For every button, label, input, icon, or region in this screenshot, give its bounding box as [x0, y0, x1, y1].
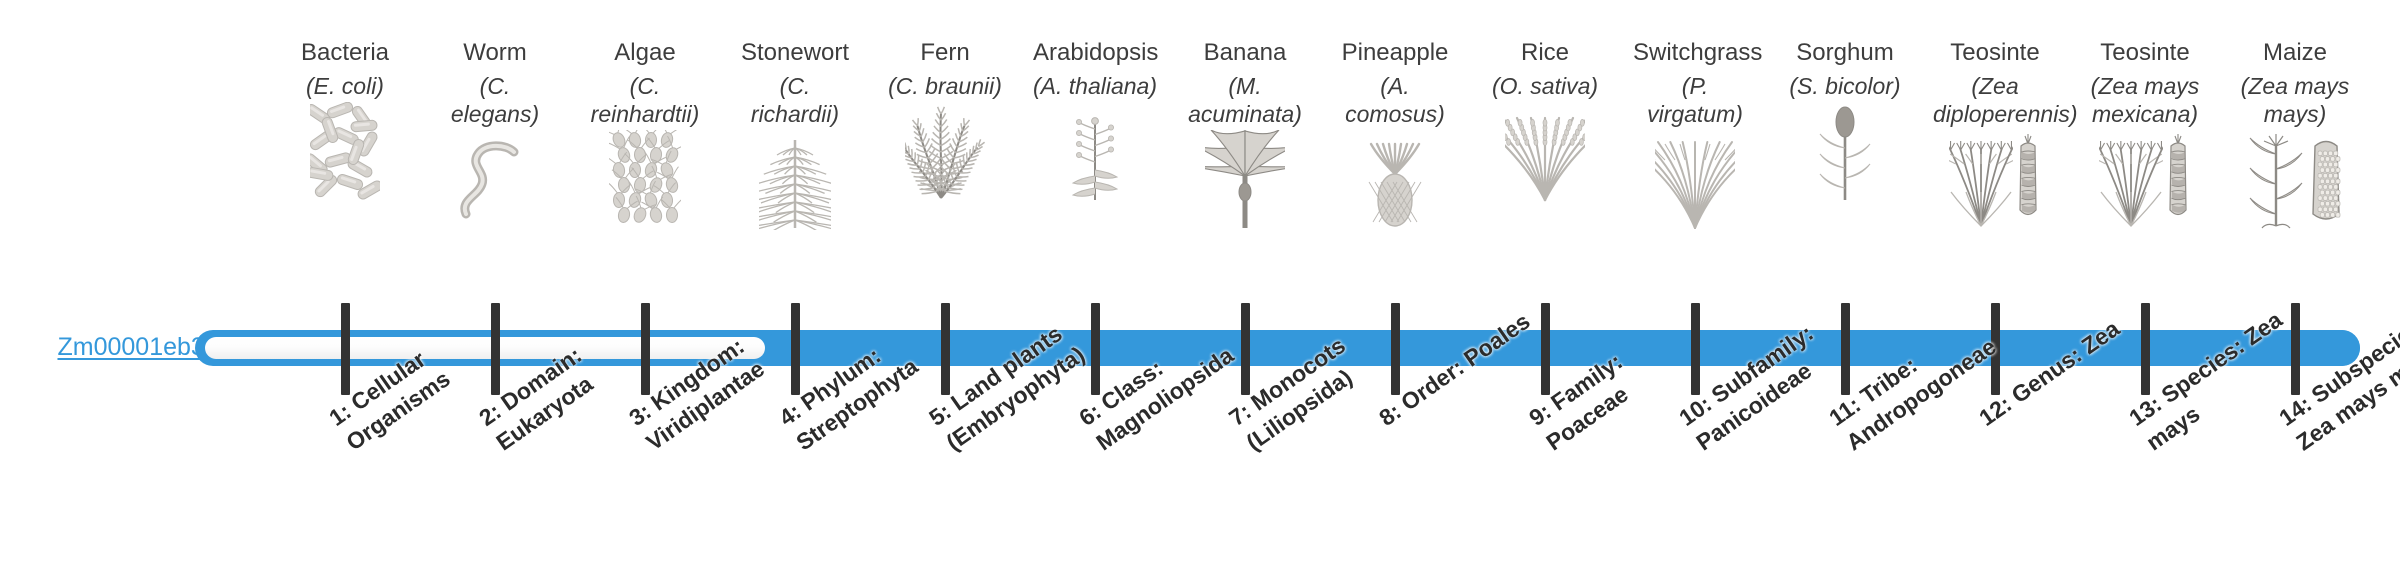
species-common-name: Switchgrass — [1633, 38, 1757, 68]
species-illustration-arabidopsis-icon — [1033, 106, 1157, 202]
species-common-name: Worm — [433, 38, 557, 68]
species-illustration-switchgrass-icon — [1633, 134, 1757, 230]
species-illustration-teosinte-icon — [1933, 134, 2057, 230]
rank-label-6: 6: Class: Magnoliopsida — [1073, 299, 1263, 457]
species-common-name: Banana — [1183, 38, 1307, 68]
species-column-fern-5: Fern(C. braunii) — [883, 38, 1007, 202]
species-common-name: Pineapple — [1333, 38, 1457, 68]
species-common-name: Rice — [1483, 38, 1607, 68]
rank-label-5: 5: Land plants (Embryophyta) — [923, 299, 1113, 457]
species-illustration-stonewort-icon — [733, 134, 857, 230]
species-illustration-teosinte-icon — [2083, 134, 2207, 230]
species-column-pineapple-8: Pineapple(A. comosus) — [1333, 38, 1457, 230]
rank-label-2: 2: Domain: Eukaryota — [473, 299, 663, 457]
species-column-arabidopsis-6: Arabidopsis(A. thaliana) — [1033, 38, 1157, 202]
species-scientific-name: (O. sativa) — [1483, 72, 1607, 100]
tick-mark-1 — [341, 303, 350, 395]
gene-label-separator: : — [274, 333, 288, 361]
species-illustration-rice-icon — [1483, 106, 1607, 202]
gene-phylostratum-label: Zm00001eb394770: Phylostratum 4 — [0, 332, 455, 362]
rank-label-3: 3: Kingdom: Viridiplantae — [623, 299, 813, 457]
bar-outline — [195, 330, 2360, 366]
species-scientific-name: (S. bicolor) — [1783, 72, 1907, 100]
species-column-stonewort-4: Stonewort(C. richardii) — [733, 38, 857, 230]
species-column-algae-3: Algae(C. reinhardtii) — [583, 38, 707, 230]
tick-mark-13 — [2141, 303, 2150, 395]
species-scientific-name: (A. thaliana) — [1033, 72, 1157, 100]
species-scientific-name: (Zea mays mexicana) — [2083, 72, 2207, 128]
rank-label-9: 9: Family: Poaceae — [1523, 299, 1713, 457]
rank-label-1: 1: Cellular Organisms — [323, 299, 513, 457]
species-scientific-name: (C. braunii) — [883, 72, 1007, 100]
species-common-name: Bacteria — [283, 38, 407, 68]
species-column-rice-9: Rice(O. sativa) — [1483, 38, 1607, 202]
species-illustration-algae-icon — [583, 134, 707, 230]
species-scientific-name: (Zea diploperennis) — [1933, 72, 2057, 128]
species-scientific-name: (P. virgatum) — [1633, 72, 1757, 128]
species-scientific-name: (C. reinhardtii) — [583, 72, 707, 128]
species-illustration-worm-icon — [433, 134, 557, 230]
gene-id-link[interactable]: Zm00001eb394770 — [57, 333, 274, 361]
species-column-worm-2: Worm(C. elegans) — [433, 38, 557, 230]
species-illustration-bacteria-icon — [283, 106, 407, 202]
species-scientific-name: (M. acuminata) — [1183, 72, 1307, 128]
species-scientific-name: (C. elegans) — [433, 72, 557, 128]
species-common-name: Arabidopsis — [1033, 38, 1157, 68]
rank-label-7: 7: Monocots (Liliopsida) — [1223, 299, 1413, 457]
species-illustration-maize-icon — [2233, 134, 2357, 230]
species-common-name: Algae — [583, 38, 707, 68]
rank-label-4: 4: Phylum: Streptophyta — [773, 299, 963, 457]
species-common-name: Teosinte — [2083, 38, 2207, 68]
species-scientific-name: (C. richardii) — [733, 72, 857, 128]
rank-label-11: 11: Tribe: Andropogoneae — [1823, 299, 2013, 457]
species-common-name: Teosinte — [1933, 38, 2057, 68]
species-column-maize-14: Maize(Zea mays mays) — [2233, 38, 2357, 230]
tick-mark-9 — [1541, 303, 1550, 395]
species-column-teosinte-12: Teosinte(Zea diploperennis) — [1933, 38, 2057, 230]
rank-label-10: 10: Subfamily: Panicoideae — [1673, 299, 1863, 457]
species-scientific-name: (E. coli) — [283, 72, 407, 100]
species-illustration-banana-icon — [1183, 134, 1307, 230]
species-column-teosinte-13: Teosinte(Zea mays mexicana) — [2083, 38, 2207, 230]
species-common-name: Sorghum — [1783, 38, 1907, 68]
species-illustration-fern-icon — [883, 106, 1007, 202]
species-illustration-sorghum-icon — [1783, 106, 1907, 202]
species-common-name: Stonewort — [733, 38, 857, 68]
species-scientific-name: (Zea mays mays) — [2233, 72, 2357, 128]
species-header-row: Bacteria(E. coli)Worm(C. elegans) Algae(… — [470, 0, 2380, 320]
species-column-switchgrass-10: Switchgrass(P. virgatum) — [1633, 38, 1757, 230]
species-column-bacteria-1: Bacteria(E. coli) — [283, 38, 407, 202]
species-common-name: Fern — [883, 38, 1007, 68]
rank-label-13: 13: Species: Zea mays — [2123, 299, 2313, 457]
species-column-sorghum-11: Sorghum(S. bicolor) — [1783, 38, 1907, 202]
species-illustration-pineapple-icon — [1333, 134, 1457, 230]
species-scientific-name: (A. comosus) — [1333, 72, 1457, 128]
species-common-name: Maize — [2233, 38, 2357, 68]
phylostratum-widget: Zm00001eb394770: Phylostratum 4 Bacteria… — [0, 0, 2400, 580]
species-column-banana-7: Banana(M. acuminata) — [1183, 38, 1307, 230]
